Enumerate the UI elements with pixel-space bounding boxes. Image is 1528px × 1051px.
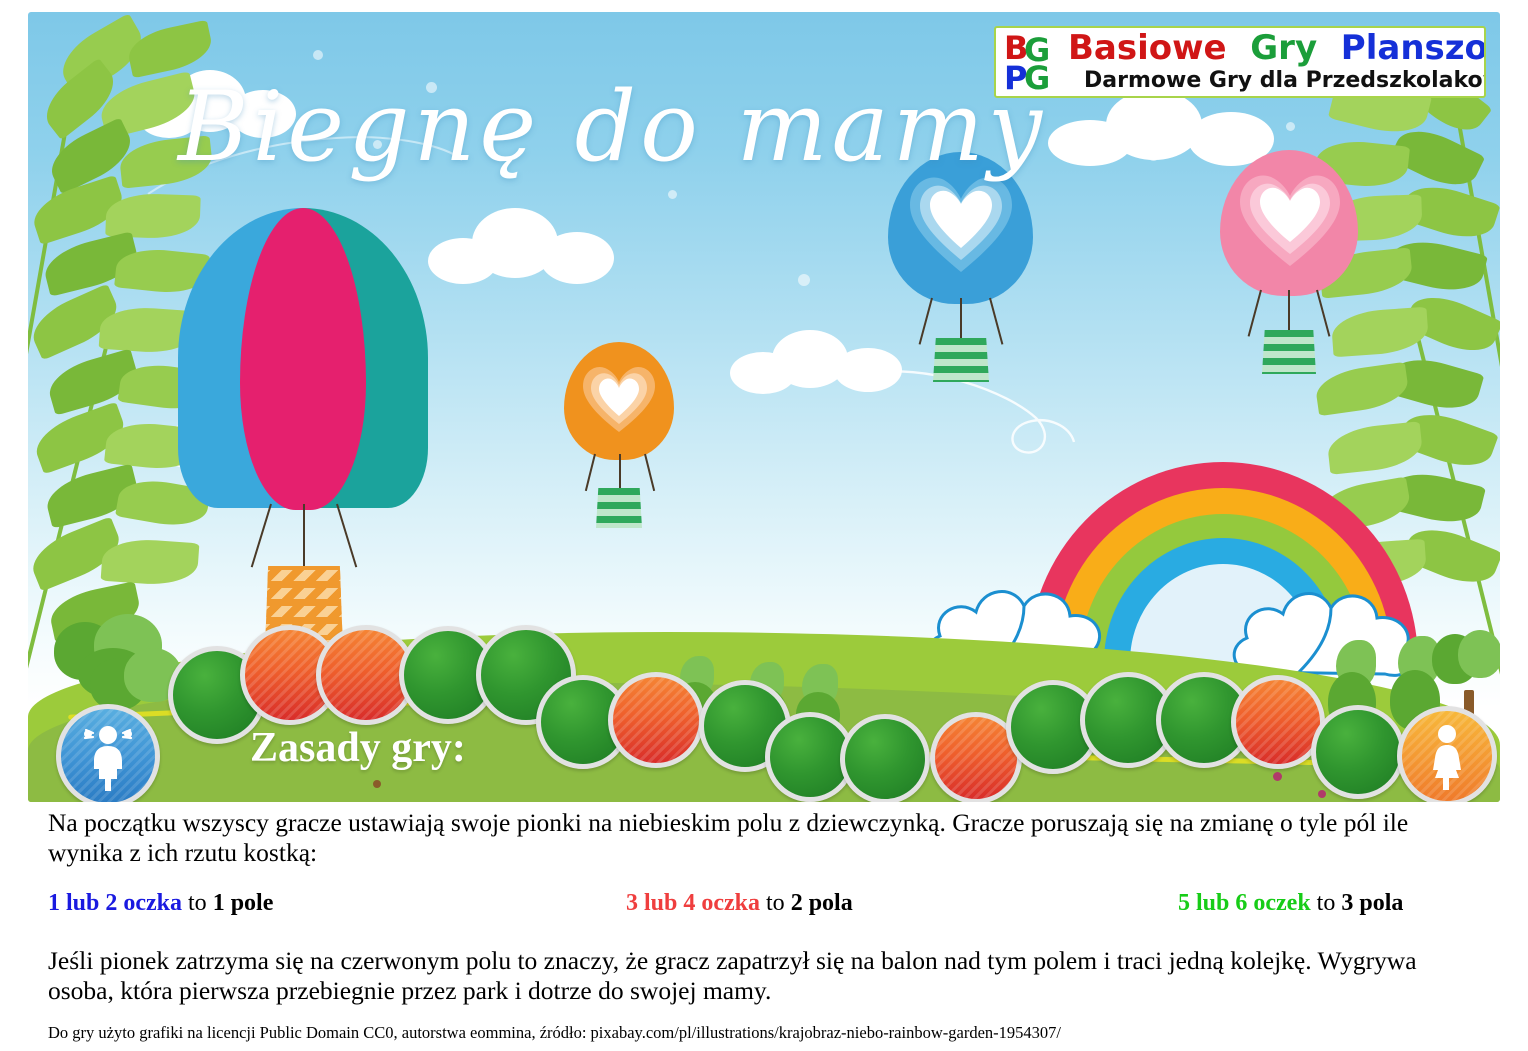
game-board-page: Biegnę do mamy Zasady gry: B G P G Basio… xyxy=(0,0,1528,1051)
rules-intro-paragraph: Na początku wszyscy gracze ustawiają swo… xyxy=(48,808,1483,868)
start-field-girl[interactable] xyxy=(56,704,160,802)
heart-icon xyxy=(1238,166,1342,270)
big-balloon-envelope xyxy=(178,208,428,518)
mother-pawn-icon xyxy=(1423,722,1471,790)
dice-rule-result: 1 pole xyxy=(213,890,274,916)
pink-heart-balloon xyxy=(1220,150,1370,370)
flower-icon xyxy=(373,780,381,788)
page-title: Biegnę do mamy xyxy=(178,67,1008,187)
logo-title: Basiowe Gry Planszowe xyxy=(1068,29,1486,67)
dice-rule-roll: 1 lub 2 oczka xyxy=(48,890,182,916)
dice-rule-1-2: 1 lub 2 oczka to 1 pole xyxy=(48,890,273,917)
balloon-ropes xyxy=(1220,290,1370,336)
logo-word-gry: Gry xyxy=(1250,28,1317,68)
path-field-red[interactable] xyxy=(608,672,704,768)
sky-dot xyxy=(798,274,810,286)
dice-rules-row: 1 lub 2 oczka to 1 pole 3 lub 4 oczka to… xyxy=(48,890,1483,924)
heart-icon xyxy=(581,360,657,436)
board-illustration: Biegnę do mamy Zasady gry: B G P G Basio… xyxy=(28,12,1500,802)
logo-letter-g2: G xyxy=(1024,62,1050,94)
end-field-mother[interactable] xyxy=(1397,706,1497,802)
logo-word-basiowe: Basiowe xyxy=(1068,28,1227,68)
girl-pawn-icon xyxy=(82,721,134,791)
dice-rule-roll: 3 lub 4 oczka xyxy=(626,890,760,916)
attribution-credit: Do gry użyto grafiki na licencji Public … xyxy=(48,1022,1483,1044)
big-balloon-ropes xyxy=(178,504,428,574)
balloon-basket xyxy=(1262,330,1316,374)
rules-heading: Zasady gry: xyxy=(250,724,466,772)
balloon-ropes xyxy=(888,298,1038,344)
path-field-green[interactable] xyxy=(1311,705,1405,799)
dice-rule-to: to xyxy=(1311,890,1342,916)
dice-rule-to: to xyxy=(760,890,791,916)
big-balloon xyxy=(178,208,428,518)
logo-monogram: B G P G xyxy=(1002,30,1064,98)
rules-outro-paragraph: Jeśli pionek zatrzyma się na czerwonym p… xyxy=(48,946,1483,1006)
dice-rule-5-6: 5 lub 6 oczek to 3 pola xyxy=(1178,890,1403,917)
balloon-basket xyxy=(933,338,989,382)
site-logo[interactable]: B G P G Basiowe Gry Planszowe Darmowe Gr… xyxy=(994,26,1486,98)
path-field-green[interactable] xyxy=(840,714,930,802)
flower-icon xyxy=(1273,772,1282,781)
balloon-basket xyxy=(596,488,642,528)
sky-dot xyxy=(668,190,677,199)
dice-rule-to: to xyxy=(182,890,213,916)
logo-word-planszowe: Planszowe xyxy=(1341,28,1486,68)
flower-icon xyxy=(1318,790,1326,798)
rules-section: Na początku wszyscy gracze ustawiają swo… xyxy=(48,808,1483,1044)
cloud xyxy=(428,208,618,284)
logo-subtitle: Darmowe Gry dla Przedszkolakow xyxy=(1084,68,1486,94)
sky-dot xyxy=(1286,122,1295,131)
dice-rule-3-4: 3 lub 4 oczka to 2 pola xyxy=(626,890,853,917)
dice-rule-roll: 5 lub 6 oczek xyxy=(1178,890,1311,916)
sky-dot xyxy=(313,50,323,60)
orange-heart-balloon xyxy=(564,342,674,532)
dice-rule-result: 3 pola xyxy=(1341,890,1403,916)
dice-rule-result: 2 pola xyxy=(791,890,853,916)
